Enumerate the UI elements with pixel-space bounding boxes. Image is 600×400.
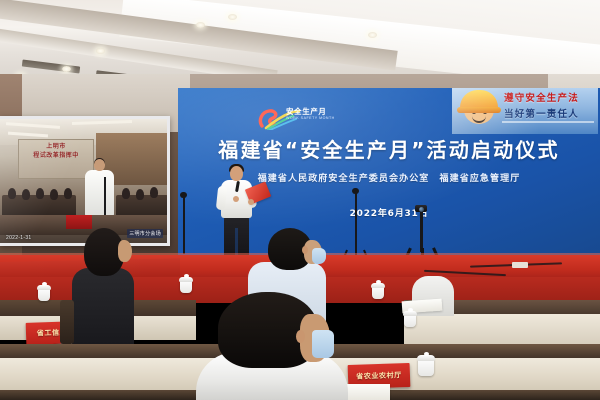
- remote-banner-line2: 程试改革指挥中: [22, 152, 90, 161]
- tripod-column: [420, 212, 423, 252]
- face-mask: [312, 248, 326, 264]
- remote-mic-stand: [104, 177, 106, 217]
- tea-cup-knob: [376, 280, 381, 284]
- tea-cup: [404, 314, 416, 327]
- tea-cup: [372, 286, 384, 299]
- mascot-eye: [472, 110, 476, 114]
- video-conference-screen[interactable]: 上明市 程试改革指挥中 2022-1-31 三明市分会场: [0, 116, 170, 246]
- remote-attendee: [122, 188, 130, 199]
- remote-attendee: [64, 188, 72, 199]
- poster-slogan-line1: 遵守安全生产法: [504, 90, 579, 104]
- microphone-stand: [355, 192, 357, 254]
- remote-speaker-head: [94, 159, 105, 171]
- logo-swoosh-icon: [256, 102, 300, 130]
- air-vent: [22, 59, 80, 73]
- tea-cup: [180, 280, 192, 293]
- conference-hall-photo: 上明市 程试改革指挥中 2022-1-31 三明市分会场: [0, 0, 600, 400]
- downlight: [96, 48, 105, 54]
- logo-text-en: WORK SAFETY MONTH: [286, 116, 335, 120]
- microphone-stand: [183, 196, 185, 254]
- tea-cup: [38, 288, 50, 301]
- remote-attendee: [136, 189, 144, 200]
- logo-text-cn: 安全生产月: [286, 106, 327, 117]
- remote-attendee: [50, 189, 58, 200]
- floor-power-box: [512, 262, 528, 268]
- mascot-eye: [483, 110, 487, 114]
- remote-attendee: [150, 187, 158, 198]
- microphone-head: [352, 188, 359, 194]
- audience-table-right-panel: [404, 314, 600, 348]
- stage-speaker-hand: [248, 199, 254, 205]
- attendee-ear: [296, 330, 305, 343]
- tea-cup-knob: [42, 282, 47, 286]
- remote-banner-line1: 上明市: [22, 143, 90, 152]
- safety-slogan-poster: 遵守安全生产法 当好第一责任人: [452, 88, 598, 134]
- hard-hat-icon: [460, 90, 498, 111]
- microphone-head: [180, 192, 187, 198]
- stage-speaker-hand: [233, 196, 239, 202]
- tea-cup-knob: [424, 352, 429, 356]
- poster-slogan-line2: 当好第一责任人: [504, 106, 579, 120]
- remote-attendee: [8, 188, 16, 199]
- stage-speaker-head: [230, 166, 243, 181]
- attendee-woman-left-face: [118, 240, 132, 262]
- remote-attendee: [36, 188, 44, 199]
- banner-title: 福建省“安全生产月”活动启动仪式: [178, 134, 600, 163]
- face-mask: [312, 330, 334, 358]
- chair-back: [60, 300, 74, 344]
- poster-divider: [502, 121, 594, 123]
- remote-caption: 三明市分会场: [127, 229, 163, 238]
- tea-cup-knob: [408, 308, 413, 312]
- attendee-ear: [302, 246, 308, 254]
- remote-timestamp: 2022-1-31: [6, 235, 32, 241]
- remote-banner-text: 上明市 程试改革指挥中: [22, 143, 90, 161]
- tea-cup-knob: [184, 274, 189, 278]
- remote-speaker-body: [85, 170, 114, 216]
- remote-attendee: [22, 189, 30, 200]
- name-placard-center-text: 省农业农村厅: [356, 370, 402, 382]
- downlight: [196, 22, 205, 28]
- downlight: [62, 66, 71, 72]
- tea-cup: [418, 358, 434, 376]
- downlight: [368, 32, 377, 38]
- safety-production-month-logo: 安全生产月 WORK SAFETY MONTH: [256, 98, 340, 134]
- hard-hat-brim: [457, 107, 501, 113]
- downlight: [228, 14, 237, 20]
- attendee-woman-left-body: [72, 268, 134, 344]
- remote-red-podium: [66, 215, 92, 229]
- mascot-mouth: [472, 116, 486, 123]
- mascot-face: [464, 96, 494, 124]
